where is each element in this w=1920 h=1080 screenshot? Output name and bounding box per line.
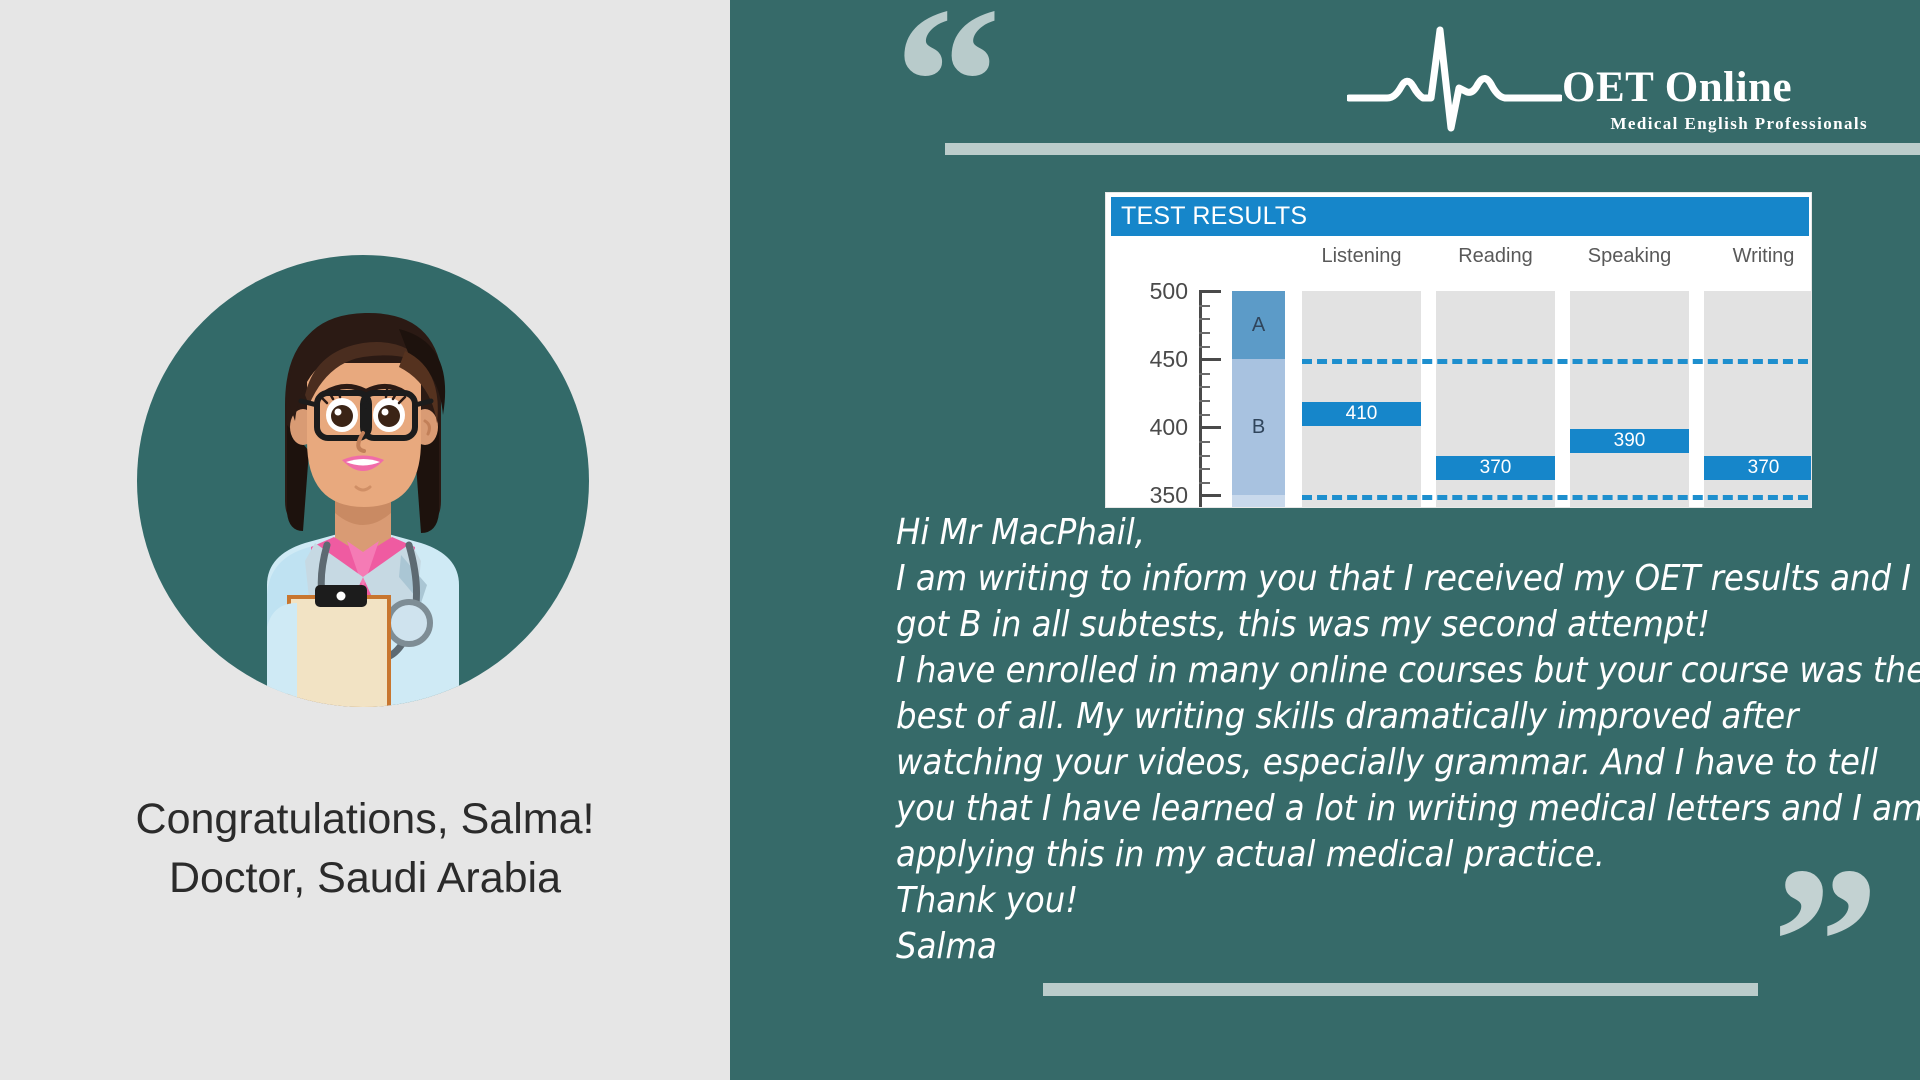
avatar (137, 255, 589, 707)
score-bar-speaking: 390 (1570, 429, 1689, 453)
y-axis-minor-tick (1199, 318, 1210, 320)
y-axis-minor-tick (1199, 346, 1210, 348)
left-panel: Congratulations, Salma! Doctor, Saudi Ar… (0, 0, 730, 1080)
subject-header-listening: Listening (1302, 245, 1421, 268)
y-axis-minor-tick (1199, 468, 1210, 470)
testimonial-line: watching your videos, especially grammar… (896, 740, 1906, 786)
subject-header-writing: Writing (1704, 245, 1812, 268)
female-doctor-avatar-illustration (137, 255, 589, 707)
subject-header-reading: Reading (1436, 245, 1555, 268)
y-axis-tick (1199, 426, 1221, 429)
testimonial-line: Thank you! (896, 878, 1906, 924)
testimonial-line: got B in all subtests, this was my secon… (896, 602, 1906, 648)
grade-band-b: B (1232, 359, 1285, 495)
testimonial-line: Salma (896, 924, 1906, 970)
y-axis-minor-tick (1199, 305, 1210, 307)
score-bar-reading: 370 (1436, 456, 1555, 480)
y-axis-tick-label: 400 (1132, 416, 1188, 439)
test-results-chart: 500450400350ABListening410Reading370Spea… (1106, 237, 1812, 508)
y-axis-minor-tick (1199, 373, 1210, 375)
testimonial-line: I have enrolled in many online courses b… (896, 648, 1906, 694)
testimonial-line: applying this in my actual medical pract… (896, 832, 1906, 878)
closing-quote-mark: ” (1772, 834, 1880, 1049)
logo-subtitle: Medical English Professionals (1562, 114, 1868, 134)
congratulations-line: Congratulations, Salma! (0, 790, 730, 849)
score-bar-listening: 410 (1302, 402, 1421, 426)
y-axis-minor-tick (1199, 386, 1210, 388)
test-results-card: TEST RESULTS 500450400350ABListening410R… (1105, 192, 1812, 508)
testimonial-line: you that I have learned a lot in writing… (896, 786, 1906, 832)
subject-column-writing: 370 (1704, 291, 1812, 508)
divider-bottom (1043, 983, 1758, 996)
score-bar-writing: 370 (1704, 456, 1812, 480)
y-axis-minor-tick (1199, 400, 1210, 402)
testimonial-slide: Congratulations, Salma! Doctor, Saudi Ar… (0, 0, 1920, 1080)
subject-column-speaking: 390 (1570, 291, 1689, 508)
y-axis-tick (1199, 358, 1221, 361)
test-results-title: TEST RESULTS (1111, 197, 1809, 236)
clipboard-icon (287, 585, 391, 707)
profession-line: Doctor, Saudi Arabia (0, 849, 730, 908)
reference-line-350 (1302, 495, 1812, 500)
opening-quote-mark: “ (894, 0, 1002, 189)
y-axis-tick-label: 500 (1132, 280, 1188, 303)
y-axis-minor-tick (1199, 414, 1210, 416)
logo: OET Online Medical English Professionals (1347, 18, 1867, 136)
grade-band-label: A (1232, 314, 1285, 337)
y-axis-tick-label: 350 (1132, 484, 1188, 507)
divider-top (945, 143, 1920, 155)
testimonial-text: Hi Mr MacPhail,I am writing to inform yo… (896, 510, 1906, 970)
subject-header-speaking: Speaking (1570, 245, 1689, 268)
grade-band-tail (1232, 495, 1285, 508)
testimonial-line: best of all. My writing skills dramatica… (896, 694, 1906, 740)
logo-title: OET Online (1562, 66, 1862, 109)
right-panel: OET Online Medical English Professionals… (730, 0, 1920, 1080)
y-axis-minor-tick (1199, 441, 1210, 443)
y-axis-minor-tick (1199, 455, 1210, 457)
y-axis-tick-label: 450 (1132, 348, 1188, 371)
subject-column-listening: 410 (1302, 291, 1421, 508)
y-axis-tick (1199, 494, 1221, 497)
subject-column-reading: 370 (1436, 291, 1555, 508)
reference-line-450 (1302, 359, 1812, 364)
testimonial-line: Hi Mr MacPhail, (896, 510, 1906, 556)
y-axis-minor-tick (1199, 332, 1210, 334)
grade-band-label: B (1232, 416, 1285, 439)
grade-band-a: A (1232, 291, 1285, 359)
left-caption: Congratulations, Salma! Doctor, Saudi Ar… (0, 790, 730, 908)
y-axis-tick (1199, 290, 1221, 293)
ecg-heartbeat-icon (1347, 24, 1562, 132)
grade-band-scale: AB (1232, 291, 1285, 508)
testimonial-line: I am writing to inform you that I receiv… (896, 556, 1906, 602)
y-axis-minor-tick (1199, 482, 1210, 484)
